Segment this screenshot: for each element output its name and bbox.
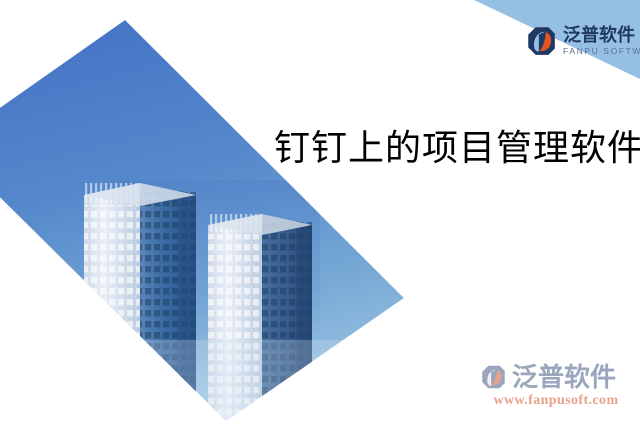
fanpu-watermark-logo-icon: [478, 362, 508, 392]
slide-canvas: 泛普软件 FANPU SOFTWARE 钉钉上的项目管理软件 泛普软件 www.…: [0, 0, 640, 427]
page-title: 钉钉上的项目管理软件: [274, 126, 640, 170]
watermark-url: www.fanpusoft.com: [478, 393, 634, 409]
header-brand-cn: 泛普软件: [563, 26, 640, 44]
footer-watermark: 泛普软件 www.fanpusoft.com: [478, 362, 634, 420]
header-logo: 泛普软件 FANPU SOFTWARE: [524, 18, 636, 64]
diamond-artwork-group: [0, 20, 420, 427]
watermark-brand-cn: 泛普软件: [512, 364, 616, 390]
left-tower: [84, 183, 196, 427]
watermark-brand-row: 泛普软件: [478, 362, 634, 392]
header-brand-en: FANPU SOFTWARE: [563, 47, 640, 56]
fanpu-hexagon-logo-icon: [524, 24, 558, 58]
